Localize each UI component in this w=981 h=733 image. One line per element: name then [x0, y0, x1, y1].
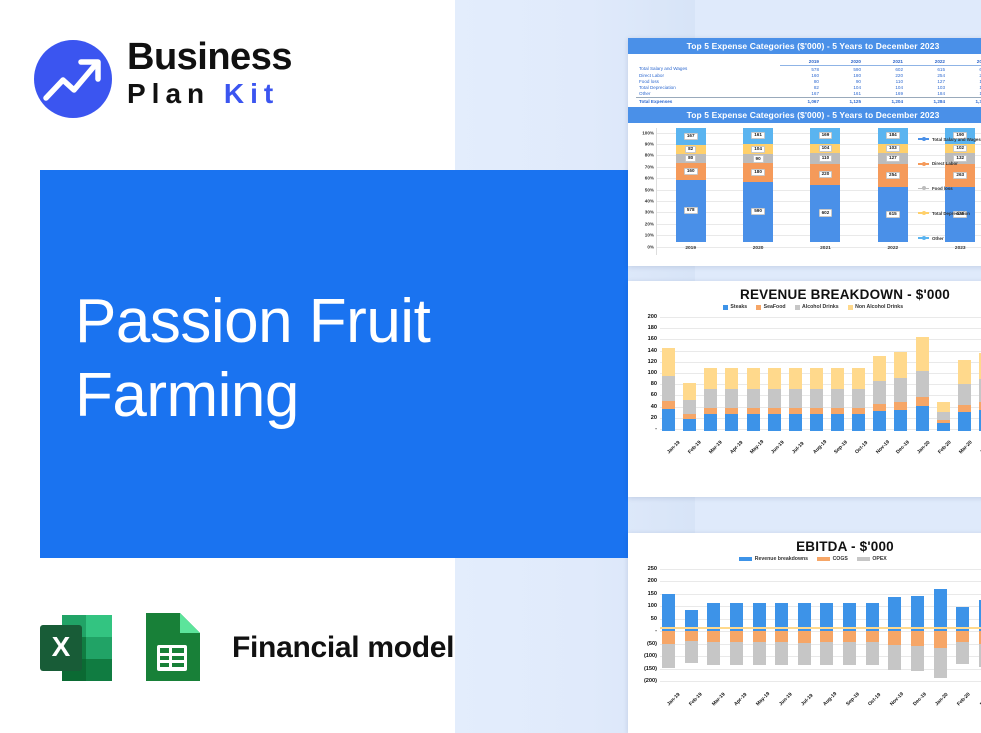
axis-tick-label: Feb-20 — [937, 442, 950, 455]
axis-tick-label: 2023 — [945, 246, 975, 251]
bar-segment-opex — [866, 642, 879, 664]
bar-segment: 104 — [810, 144, 840, 154]
bar-segment: 169 — [810, 128, 840, 144]
legend-item: Revenue breakdowns — [739, 556, 808, 562]
legend-swatch — [918, 188, 929, 190]
bar-segment-opex — [685, 641, 698, 663]
bar-segment — [873, 411, 886, 431]
legend-swatch — [918, 212, 929, 214]
footer-format-row: X Financial model — [38, 608, 454, 688]
data-label: 578 — [684, 207, 698, 214]
table-cell: 167 — [780, 91, 822, 98]
bar-segment: 127 — [878, 153, 908, 164]
bar-segment — [810, 368, 823, 389]
brand-word-kit: Kit — [224, 78, 279, 109]
bar-segment — [704, 389, 717, 408]
axis-tick-label: 180 — [648, 325, 657, 331]
axis-tick-label: Feb-19 — [687, 442, 700, 455]
axis-tick-label: Mar-19 — [711, 694, 724, 707]
axis-tick-label: 140 — [648, 348, 657, 354]
bar-segment — [810, 414, 823, 431]
axis-tick-label: 2021 — [810, 246, 840, 251]
table-cell: 1,204 — [864, 97, 906, 104]
bar-segment-cogs — [866, 631, 879, 642]
legend-label: Non Alcohol Drinks — [855, 304, 903, 310]
expense-table-title: Top 5 Expense Categories ($'000) - 5 Yea… — [628, 38, 981, 54]
axis-tick-label: Jun-19 — [770, 442, 783, 455]
axis-tick-label: Feb-19 — [688, 694, 701, 707]
bar-segment — [852, 389, 865, 408]
legend-label: Direct Labor — [932, 161, 958, 166]
bar-segment-opex — [707, 642, 720, 664]
bar-segment — [831, 368, 844, 389]
table-cell: 169 — [864, 91, 906, 98]
bar-segment — [789, 414, 802, 431]
stacked-chart-x-axis: 20192020202120222023 — [657, 242, 981, 255]
bar-segment — [725, 414, 738, 431]
stacked-bar — [683, 317, 696, 431]
bar-segment — [873, 404, 886, 411]
legend-item: Alcohol Drinks — [795, 304, 839, 310]
axis-tick-label: 50 — [651, 616, 657, 622]
table-col-header: 2023 — [948, 58, 981, 66]
stacked-bar — [789, 317, 802, 431]
data-label: 127 — [886, 155, 900, 162]
bar-segment: 180 — [743, 163, 773, 181]
table-cell: 1,316 — [948, 97, 981, 104]
bar-segment: 254 — [878, 164, 908, 187]
bar-segment — [958, 405, 971, 412]
bar-segment — [958, 360, 971, 384]
revenue-chart-legend: SteaksSeaFoodAlcohol DrinksNon Alcohol D… — [628, 304, 981, 310]
stacked-bar — [852, 317, 865, 431]
ebitda-chart-title: EBITDA - $'000 — [628, 533, 981, 556]
axis-tick-label: 160 — [648, 336, 657, 342]
legend-swatch — [848, 305, 853, 310]
bar-segment — [789, 389, 802, 408]
ebitda-chart-body: 25020015010050-(50)(100)(150)(200) Jan-1… — [628, 563, 981, 711]
revenue-chart-x-axis: Jan-19Feb-19Mar-19Apr-19May-19Jun-19Jul-… — [660, 451, 981, 457]
bar-segment — [852, 414, 865, 431]
table-cell: 184 — [906, 91, 948, 98]
bar-segment: 161 — [743, 128, 773, 144]
bar-segment-revenue — [888, 597, 901, 635]
axis-tick-label: Sep-19 — [845, 694, 858, 707]
microsoft-excel-icon: X — [38, 611, 116, 685]
legend-label: Total Depreciation — [932, 211, 970, 216]
bar-segment-opex — [888, 645, 901, 669]
bar-segment-cogs — [843, 631, 856, 642]
stacked-bar: 184103127254615 — [878, 128, 908, 242]
legend-label: Revenue breakdowns — [755, 556, 808, 562]
table-col-header: 2019 — [780, 58, 822, 66]
axis-tick-label: 40% — [645, 198, 654, 203]
axis-tick-label: Jul-19 — [791, 442, 804, 455]
data-label: 90 — [753, 155, 764, 162]
axis-tick-label: Apr-19 — [733, 694, 746, 707]
table-row: Total Salary and Wages578590602615629 — [636, 66, 981, 73]
stacked-chart-legend: Total Salary and WagesDirect LaborFood l… — [918, 137, 981, 241]
brand-line-business: Business — [127, 37, 337, 77]
bar-segment: 578 — [676, 180, 706, 242]
bar-segment: 615 — [878, 187, 908, 242]
bar-segment — [894, 352, 907, 379]
stacked-bar — [873, 317, 886, 431]
axis-tick-label: May-19 — [749, 442, 762, 455]
stacked-bar — [810, 317, 823, 431]
bar-segment-cogs — [685, 631, 698, 640]
ebitda-chart-plot: Jan-19Feb-19Mar-19Apr-19May-19Jun-19Jul-… — [660, 563, 981, 711]
bar-segment-revenue — [662, 594, 675, 635]
page-title: Passion Fruit Farming — [75, 285, 615, 433]
bar-segment: 184 — [878, 128, 908, 144]
bar-segment-cogs — [707, 631, 720, 642]
axis-tick-label: Jan-20 — [934, 694, 947, 707]
bar-segment — [662, 409, 675, 431]
brand-line-plan-kit: Plan Kit — [127, 77, 337, 111]
data-label: 104 — [751, 146, 765, 153]
bar-segment — [916, 371, 929, 398]
axis-tick-label: 200 — [648, 314, 657, 320]
axis-tick-label: 30% — [645, 210, 654, 215]
table-row-label: Other — [636, 91, 780, 98]
bar-segment — [662, 401, 675, 409]
data-label: 590 — [751, 208, 765, 215]
axis-tick-label: 40 — [651, 404, 657, 410]
axis-tick-label: Feb-20 — [956, 694, 969, 707]
bar-segment — [725, 368, 738, 389]
axis-tick-label: (50) — [647, 641, 657, 647]
data-label: 103 — [886, 145, 900, 152]
google-sheets-icon — [140, 611, 206, 685]
legend-label: Alcohol Drinks — [802, 304, 839, 310]
bar-segment-opex — [662, 644, 675, 668]
revenue-bars — [660, 317, 981, 431]
stacked-chart-y-axis: 100%90%80%70%60%50%40%30%20%10%0% — [632, 128, 656, 255]
bar-segment-opex — [753, 642, 766, 664]
table-cell: 190 — [948, 91, 981, 98]
legend-label: Total Salary and Wages — [932, 137, 981, 142]
bar-segment — [704, 368, 717, 389]
legend-item: Steaks — [723, 304, 747, 310]
table-cell: 629 — [948, 66, 981, 73]
table-col-header: 2021 — [864, 58, 906, 66]
stacked-bar — [725, 317, 738, 431]
bar-segment — [958, 412, 971, 431]
table-cell: 1,125 — [822, 97, 864, 104]
axis-tick-label: Apr-19 — [729, 442, 742, 455]
axis-tick-label: Jan-19 — [666, 442, 679, 455]
bar-segment — [747, 414, 760, 431]
data-label: 615 — [886, 211, 900, 218]
axis-tick-label: Jan-20 — [916, 442, 929, 455]
trend-arrow-circle-icon — [34, 40, 112, 118]
axis-tick-label: 200 — [648, 578, 657, 584]
bar-segment: 104 — [743, 144, 773, 155]
axis-tick-label: 60 — [651, 392, 657, 398]
bar-segment — [894, 402, 907, 410]
bar-segment — [768, 414, 781, 431]
bar-segment — [704, 414, 717, 431]
footer-label: Financial model — [232, 631, 454, 665]
legend-item: Non Alcohol Drinks — [848, 304, 903, 310]
expense-stacked-chart: 100%90%80%70%60%50%40%30%20%10%0% 167828… — [628, 123, 981, 255]
axis-tick-label: 80 — [651, 381, 657, 387]
bar-segment-cogs — [934, 631, 947, 648]
stacked-bar — [958, 317, 971, 431]
stacked-bar — [704, 317, 717, 431]
bar-segment-cogs — [775, 631, 788, 642]
legend-item: COGS — [817, 556, 848, 562]
bar-segment: 82 — [676, 145, 706, 154]
brand-wordmark: Business Plan Kit — [127, 37, 337, 111]
table-cell: 1,284 — [906, 97, 948, 104]
legend-label: Steaks — [730, 304, 747, 310]
legend-item: Direct Labor — [918, 161, 981, 166]
bar-segment — [937, 402, 950, 412]
table-row-label: Total Expenses — [636, 97, 780, 104]
bar-segment — [916, 337, 929, 371]
ebitda-chart-legend: Revenue breakdownsCOGSOPEX — [628, 556, 981, 562]
axis-tick-label: Mar-19 — [708, 442, 721, 455]
bar-segment-revenue — [911, 596, 924, 635]
ebitda-chart-x-axis: Jan-19Feb-19Mar-19Apr-19May-19Jun-19Jul-… — [660, 703, 981, 709]
legend-item: SeaFood — [756, 304, 785, 310]
axis-tick-label: 20% — [645, 221, 654, 226]
legend-swatch — [857, 557, 870, 561]
bar-segment-opex — [820, 642, 833, 664]
table-col-header — [636, 58, 780, 66]
axis-tick-label: 100% — [642, 130, 654, 135]
bar-segment-cogs — [956, 631, 969, 641]
bar-segment — [937, 423, 950, 431]
bar-segment: 590 — [743, 182, 773, 242]
ebitda-chart-y-axis: 25020015010050-(50)(100)(150)(200) — [630, 563, 660, 711]
legend-swatch — [817, 557, 830, 561]
revenue-chart-title: REVENUE BREAKDOWN - $'000 — [628, 281, 981, 304]
legend-label: Other — [932, 236, 944, 241]
data-label: 602 — [819, 209, 833, 216]
revenue-chart-body: 20018016014012010080604020- Jan-19Feb-19… — [628, 311, 981, 459]
ebitda-trend-line — [660, 627, 981, 629]
axis-tick-label: 50% — [645, 187, 654, 192]
stacked-bar — [916, 317, 929, 431]
bar-segment: 90 — [743, 154, 773, 163]
bar-segment — [831, 414, 844, 431]
table-cell: 602 — [864, 66, 906, 73]
stacked-bar — [937, 317, 950, 431]
data-label: 220 — [819, 171, 833, 178]
bar-segment — [916, 406, 929, 431]
data-label: 167 — [684, 133, 698, 140]
bar-segment — [768, 389, 781, 408]
legend-swatch — [918, 237, 929, 239]
bar-segment — [683, 419, 696, 431]
revenue-chart-plot: Jan-19Feb-19Mar-19Apr-19May-19Jun-19Jul-… — [660, 311, 981, 459]
data-label: 254 — [886, 172, 900, 179]
axis-tick-label: 90% — [645, 141, 654, 146]
table-cell: 615 — [906, 66, 948, 73]
bar-segment — [789, 368, 802, 389]
data-label: 160 — [684, 168, 698, 175]
stacked-bar: 16110490180590 — [743, 128, 773, 242]
axis-tick-label: Aug-19 — [812, 442, 825, 455]
axis-tick-label: Sep-19 — [833, 442, 846, 455]
bar-segment: 167 — [676, 128, 706, 146]
revenue-breakdown-card[interactable]: REVENUE BREAKDOWN - $'000 SteaksSeaFoodA… — [628, 281, 981, 497]
table-cell: 578 — [780, 66, 822, 73]
bar-segment — [916, 397, 929, 406]
bar-segment-cogs — [753, 631, 766, 642]
bar-segment — [937, 412, 950, 420]
bar-segment-opex — [934, 648, 947, 677]
axis-tick-label: Dec-19 — [895, 442, 908, 455]
bar-segment — [683, 400, 696, 415]
revenue-chart-y-axis: 20018016014012010080604020- — [630, 311, 660, 459]
slide-canvas: Business Plan Kit Passion Fruit Farming … — [0, 0, 981, 733]
data-label: 169 — [819, 132, 833, 139]
bar-segment-opex — [843, 642, 856, 664]
legend-item: OPEX — [857, 556, 887, 562]
data-label: 161 — [751, 132, 765, 139]
bar-segment: 602 — [810, 185, 840, 242]
axis-tick-label: Aug-19 — [822, 694, 835, 707]
bar-segment-cogs — [820, 631, 833, 642]
bar-segment-opex — [911, 646, 924, 671]
axis-tick-label: 2022 — [878, 246, 908, 251]
axis-tick-label: (200) — [644, 678, 657, 684]
legend-swatch — [756, 305, 761, 310]
table-col-header: 2020 — [822, 58, 864, 66]
bar-segment — [894, 378, 907, 402]
axis-tick-label: 120 — [648, 359, 657, 365]
data-label: 180 — [751, 169, 765, 176]
table-cell: 161 — [822, 91, 864, 98]
bar-segment — [768, 368, 781, 389]
bar-segment — [747, 368, 760, 389]
data-label: 184 — [886, 132, 900, 139]
axis-tick-label: Jan-19 — [666, 694, 679, 707]
table-cell: 1,067 — [780, 97, 822, 104]
expense-chart-title: Top 5 Expense Categories ($'000) - 5 Yea… — [628, 107, 981, 123]
table-row: Total Expenses1,0671,1251,2041,2841,316 — [636, 97, 981, 104]
bar-segment-cogs — [662, 631, 675, 644]
brand-word-plan: Plan — [127, 78, 210, 109]
axis-tick-label: 250 — [648, 566, 657, 572]
axis-tick-label: (100) — [644, 653, 657, 659]
axis-tick-label: 20 — [651, 415, 657, 421]
axis-tick-label: 10% — [645, 233, 654, 238]
card-right-edge — [972, 281, 981, 497]
legend-swatch — [918, 138, 929, 140]
table-row-label: Total Salary and Wages — [636, 66, 780, 73]
bar-segment — [958, 384, 971, 405]
stacked-bar: 1678280160578 — [676, 128, 706, 242]
expense-table: 20192020202120222023 Total Salary and Wa… — [628, 54, 981, 107]
axis-tick-label: 80% — [645, 153, 654, 158]
bar-segment — [873, 381, 886, 403]
axis-tick-label: Mar-20 — [958, 442, 971, 455]
bar-segment — [831, 389, 844, 408]
data-label: 104 — [819, 145, 833, 152]
axis-tick-label: 2020 — [743, 246, 773, 251]
table-col-header: 2022 — [906, 58, 948, 66]
legend-item: Total Salary and Wages — [918, 137, 981, 142]
legend-label: Food loss — [932, 186, 953, 191]
axis-tick-label: 0% — [647, 244, 654, 249]
page-title-line-2: Farming — [75, 359, 615, 433]
bar-segment: 220 — [810, 164, 840, 185]
ebitda-card[interactable]: EBITDA - $'000 Revenue breakdownsCOGSOPE… — [628, 533, 981, 733]
brand-logo[interactable]: Business Plan Kit — [34, 35, 334, 123]
bar-segment — [747, 389, 760, 408]
axis-tick-label: 150 — [648, 591, 657, 597]
bar-segment — [662, 348, 675, 376]
axis-tick-label: Oct-19 — [867, 694, 880, 707]
data-label: 110 — [819, 155, 832, 162]
stacked-bar — [747, 317, 760, 431]
axis-tick-label: 70% — [645, 164, 654, 169]
axis-tick-label: Jun-19 — [778, 694, 791, 707]
bar-segment: 160 — [676, 163, 706, 180]
stacked-bar — [662, 317, 675, 431]
stacked-bar — [831, 317, 844, 431]
page-title-line-1: Passion Fruit — [75, 285, 615, 359]
axis-tick-label: May-19 — [755, 694, 768, 707]
axis-tick-label: Dec-19 — [912, 694, 925, 707]
table-header-row: 20192020202120222023 — [636, 58, 981, 66]
expense-categories-card[interactable]: Top 5 Expense Categories ($'000) - 5 Yea… — [628, 38, 981, 266]
bar-segment-opex — [730, 642, 743, 664]
axis-tick-label: - — [655, 426, 657, 432]
bar-segment-cogs — [798, 631, 811, 642]
bar-segment — [683, 383, 696, 400]
legend-swatch — [795, 305, 800, 310]
legend-item: Total Depreciation — [918, 211, 981, 216]
stacked-bar — [894, 317, 907, 431]
bar-segment-cogs — [888, 631, 901, 645]
axis-tick-label: - — [655, 628, 657, 634]
bar-segment — [725, 389, 738, 408]
legend-label: OPEX — [872, 556, 886, 562]
table-cell: 590 — [822, 66, 864, 73]
bar-segment-opex — [775, 642, 788, 664]
bar-segment-cogs — [730, 631, 743, 642]
bar-segment — [894, 410, 907, 431]
legend-item: Food loss — [918, 186, 981, 191]
axis-tick-label: Oct-19 — [854, 442, 867, 455]
svg-text:X: X — [52, 631, 71, 662]
axis-tick-label: Nov-19 — [875, 442, 888, 455]
bar-segment — [852, 368, 865, 389]
bar-segment: 80 — [676, 154, 706, 163]
bar-segment-opex — [798, 643, 811, 666]
axis-tick-label: Nov-19 — [889, 694, 902, 707]
legend-swatch — [723, 305, 728, 310]
stacked-bar — [768, 317, 781, 431]
bar-segment — [810, 389, 823, 408]
bar-segment-cogs — [911, 631, 924, 645]
legend-item: Other — [918, 236, 981, 241]
ebitda-bars — [660, 569, 981, 685]
legend-label: COGS — [833, 556, 848, 562]
bar-segment-opex — [956, 642, 969, 664]
stacked-bar: 169104110220602 — [810, 128, 840, 242]
axis-tick-label: Jul-19 — [800, 694, 813, 707]
data-label: 82 — [685, 146, 696, 153]
bar-segment: 110 — [810, 153, 840, 163]
bar-segment — [662, 376, 675, 401]
